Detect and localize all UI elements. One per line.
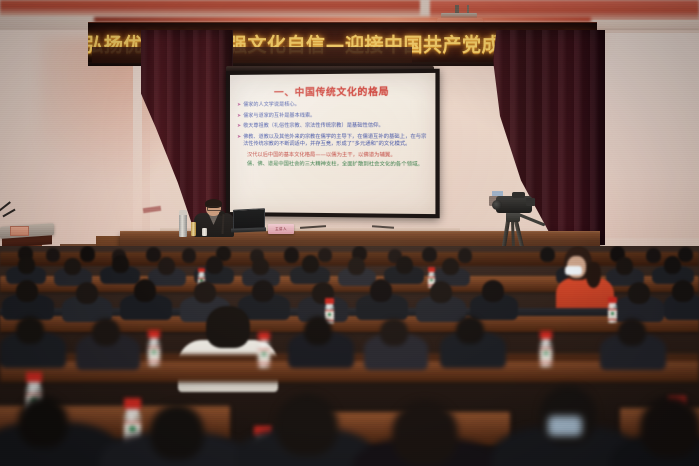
audience-head bbox=[76, 282, 98, 304]
camera-monitor bbox=[526, 198, 535, 206]
audience-head bbox=[206, 256, 223, 274]
bottle-cap bbox=[540, 331, 552, 339]
bottle-cap bbox=[26, 372, 42, 382]
audience-head bbox=[80, 246, 95, 262]
slide-bullet: ➤ 佛教、道教以及其他外来的宗教在儒学的主导下，在儒道互补的基础上，在与宗法性传… bbox=[237, 133, 430, 148]
audience-head bbox=[134, 279, 156, 302]
audience-head bbox=[252, 280, 274, 302]
slide-paragraph: 儒、佛、道是中国社会的三大精神支柱，全面扩散到社会文化的各个领域。 bbox=[237, 161, 430, 169]
bullet-arrow-icon: ➤ bbox=[237, 123, 241, 130]
bottle-neck bbox=[326, 303, 332, 307]
audience-head bbox=[64, 258, 81, 275]
bottle-cap bbox=[198, 268, 205, 272]
slide-bullet-text: 儒家的人文学说是核心。 bbox=[243, 102, 300, 110]
bottle-neck bbox=[429, 271, 434, 274]
audience-head bbox=[646, 248, 661, 263]
slide-bullet: ➤ 儒家的人文学说是核心。 bbox=[237, 101, 430, 110]
bottle-cap bbox=[428, 267, 435, 272]
audience-head bbox=[616, 257, 633, 275]
bottle-cap bbox=[258, 332, 270, 340]
slide-bullet: ➤ 敬天尊祖教（礼俗性宗教、宗法性传统宗教）是基础性信仰。 bbox=[237, 123, 430, 131]
slide-body: ➤ 儒家的人文学说是核心。 ➤ 儒家与道家的互补是基本线索。 ➤ 敬天尊祖教（礼… bbox=[237, 101, 430, 172]
ponytail bbox=[586, 262, 601, 288]
tripod-head bbox=[506, 212, 520, 222]
water-bottle bbox=[540, 331, 552, 367]
slide-bullet-text: 敬天尊祖教（礼俗性宗教、宗法性传统宗教）是基础性信仰。 bbox=[243, 123, 384, 131]
bottle-neck bbox=[28, 381, 40, 387]
audience-head bbox=[252, 258, 269, 275]
audience-head bbox=[456, 316, 484, 344]
water-cup bbox=[202, 228, 207, 236]
audience-head bbox=[442, 258, 459, 275]
audience-head bbox=[482, 280, 504, 302]
bottle-logo-icon bbox=[430, 279, 433, 282]
nameplate-text: 主讲人 bbox=[275, 227, 287, 232]
ceiling-red-light-left bbox=[0, 0, 420, 16]
audience-head bbox=[276, 394, 338, 456]
bottle-cap bbox=[124, 398, 141, 409]
bullet-arrow-icon: ➤ bbox=[237, 113, 241, 120]
projection-screen-surface: 一、中国传统文化的格局 ➤ 儒家的人文学说是核心。 ➤ 儒家与道家的互补是基本线… bbox=[230, 73, 435, 214]
camera-lens-icon bbox=[492, 200, 502, 210]
audience-head bbox=[628, 282, 650, 304]
audience-head bbox=[396, 256, 413, 274]
audience-head bbox=[18, 256, 35, 274]
audience-head bbox=[150, 404, 204, 460]
audience-head bbox=[194, 281, 216, 303]
tripod-pan-handle[interactable] bbox=[517, 212, 546, 226]
audience-head bbox=[158, 257, 175, 275]
camera-top-handle bbox=[512, 192, 525, 198]
audience-area bbox=[0, 246, 699, 466]
conference-hall-photo: 弘扬优秀传统 增强文化自信—迎接中国共产党成立100周年 一、中国传统文化的格局… bbox=[0, 0, 699, 466]
audience-head bbox=[348, 257, 365, 275]
bottle-neck bbox=[542, 338, 551, 343]
presenter bbox=[194, 200, 234, 236]
slide-paragraph: 汉代以后中国的基本文化格局——以儒为主干，以佛道为辅翼。 bbox=[237, 152, 430, 160]
bottle-cap bbox=[608, 297, 617, 303]
audience-head bbox=[380, 318, 408, 346]
bottle-neck bbox=[609, 302, 615, 306]
wall-bulkhead bbox=[92, 47, 412, 63]
slide-bullet-text: 佛教、道教以及其他外来的宗教在儒学的主导下，在儒道互补的基础上，在与宗法性传统宗… bbox=[243, 133, 430, 148]
bottle-logo-icon bbox=[129, 426, 135, 432]
face-mask bbox=[548, 416, 582, 436]
water-bottle bbox=[258, 332, 270, 368]
bullet-arrow-icon: ➤ bbox=[237, 134, 241, 141]
bottle-cap bbox=[148, 330, 160, 338]
thermos-cap bbox=[179, 210, 187, 215]
bottle-cap bbox=[325, 298, 334, 304]
audience-head bbox=[422, 247, 437, 262]
audience-head bbox=[92, 318, 120, 346]
audience-head bbox=[284, 247, 299, 263]
audience-head bbox=[304, 316, 332, 345]
slide-bullet-text: 儒家与道家的互补是基本线索。 bbox=[243, 112, 315, 120]
audience-head bbox=[678, 247, 693, 262]
small-bottle bbox=[191, 222, 196, 236]
audience-head bbox=[618, 318, 646, 346]
lectern-sign bbox=[10, 226, 29, 236]
water-bottle bbox=[608, 297, 617, 323]
audience-head bbox=[370, 279, 392, 302]
projection-screen: 一、中国传统文化的格局 ➤ 儒家的人文学说是核心。 ➤ 儒家与道家的互补是基本线… bbox=[226, 69, 440, 219]
laptop bbox=[233, 209, 265, 231]
audience-head bbox=[318, 248, 332, 262]
audience-head bbox=[206, 306, 250, 348]
thermos-flask bbox=[179, 213, 187, 237]
bottle-logo-icon bbox=[611, 312, 614, 315]
audience-head bbox=[430, 281, 452, 303]
bottle-neck bbox=[150, 337, 159, 342]
audience-head bbox=[664, 256, 681, 274]
audience-head bbox=[46, 248, 60, 262]
audience-head bbox=[18, 396, 68, 448]
desk-nameplate: 主讲人 bbox=[268, 224, 294, 234]
back-wall-right-panel bbox=[598, 33, 699, 238]
slide-title: 一、中国传统文化的格局 bbox=[230, 83, 435, 99]
audience-head bbox=[16, 316, 44, 344]
audience-head bbox=[182, 248, 196, 263]
audience-hair bbox=[640, 396, 699, 458]
face-mask bbox=[565, 266, 582, 275]
bottle-neck bbox=[126, 408, 138, 415]
water-bottle bbox=[148, 330, 160, 366]
audience-head bbox=[302, 255, 319, 273]
audience-hair bbox=[392, 400, 458, 466]
bottle-neck bbox=[260, 339, 269, 344]
bottle-neck bbox=[199, 272, 204, 275]
bottle-logo-icon bbox=[328, 313, 331, 316]
audience-head bbox=[672, 280, 694, 302]
slide-bullet: ➤ 儒家与道家的互补是基本线索。 bbox=[237, 112, 430, 120]
audience-head bbox=[112, 255, 129, 273]
audience-head bbox=[16, 280, 38, 302]
audience-head bbox=[458, 248, 472, 263]
bullet-arrow-icon: ➤ bbox=[237, 102, 241, 109]
